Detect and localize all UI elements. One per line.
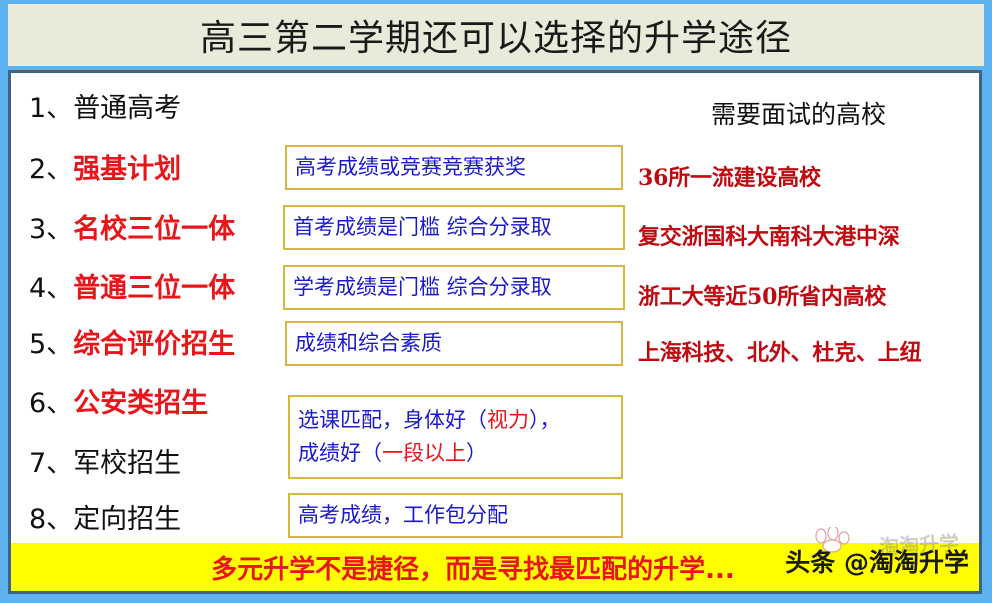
right-column-line: 36所一流建设高校	[638, 160, 821, 192]
list-item-label: 综合评价招生	[73, 329, 235, 360]
list-item-number: 5、	[29, 329, 73, 360]
page-title: 高三第二学期还可以选择的升学途径	[200, 9, 792, 61]
list-item-number: 2、	[29, 154, 73, 185]
list-item-number: 4、	[29, 273, 73, 304]
list-item-label: 名校三位一体	[73, 214, 235, 245]
right-column-line: 上海科技、北外、杜克、上纽	[638, 335, 921, 367]
bottom-banner: 多元升学不是捷径，而是寻找最匹配的升学...	[11, 543, 979, 591]
detail-text-highlight: 视力	[487, 408, 529, 432]
detail-text-highlight: 一段以上	[382, 441, 466, 465]
detail-box: 首考成绩是门槛 综合分录取	[283, 205, 625, 250]
detail-box: 高考成绩或竞赛竞赛获奖	[285, 145, 623, 190]
detail-box-line: 成绩好（一段以上）	[298, 437, 613, 470]
bottom-banner-text: 多元升学不是捷径，而是寻找最匹配的升学...	[211, 549, 735, 586]
list-item-label: 军校招生	[73, 448, 181, 479]
list-item-label: 普通高考	[73, 93, 181, 124]
detail-box: 选课匹配，身体好（视力）， 成绩好（一段以上）	[288, 395, 623, 479]
list-item-number: 6、	[29, 388, 73, 419]
list-item-label: 强基计划	[73, 154, 181, 185]
detail-box-line: 学考成绩是门槛 综合分录取	[293, 271, 615, 304]
list-item: 1、普通高考	[29, 95, 181, 122]
list-item: 3、名校三位一体	[29, 216, 235, 243]
list-item-number: 3、	[29, 214, 73, 245]
list-item-label: 公安类招生	[73, 388, 208, 419]
detail-box: 高考成绩，工作包分配	[288, 493, 623, 538]
list-item: 2、强基计划	[29, 156, 181, 183]
detail-text-pre: 选课匹配，身体好（	[298, 408, 487, 432]
right-column-heading: 需要面试的高校	[711, 95, 886, 131]
detail-box-line: 高考成绩或竞赛竞赛获奖	[295, 151, 613, 184]
detail-box: 成绩和综合素质	[285, 321, 623, 366]
detail-box-line: 选课匹配，身体好（视力），	[298, 404, 613, 437]
list-item: 6、公安类招生	[29, 390, 208, 417]
detail-text-pre: 成绩好（	[298, 441, 382, 465]
list-item-label: 普通三位一体	[73, 273, 235, 304]
detail-box-line: 成绩和综合素质	[295, 327, 613, 360]
list-item-number: 7、	[29, 448, 73, 479]
detail-box-line: 首考成绩是门槛 综合分录取	[293, 211, 615, 244]
list-item-number: 1、	[29, 93, 73, 124]
list-item: 4、普通三位一体	[29, 275, 235, 302]
list-item: 7、军校招生	[29, 450, 181, 477]
detail-text-post: ），	[529, 408, 561, 432]
content-panel: 1、普通高考 2、强基计划 3、名校三位一体 4、普通三位一体 5、综合评价招生…	[8, 70, 982, 594]
list-item-number: 8、	[29, 504, 73, 535]
slide-canvas: 高三第二学期还可以选择的升学途径 1、普通高考 2、强基计划 3、名校三位一体 …	[0, 0, 992, 603]
list-item: 5、综合评价招生	[29, 331, 235, 358]
right-column-line: 浙工大等近50所省内高校	[638, 279, 886, 311]
list-item: 8、定向招生	[29, 506, 181, 533]
list-item-label: 定向招生	[73, 504, 181, 535]
detail-text-post: ）	[466, 441, 487, 465]
right-column-line: 复交浙国科大南科大港中深	[638, 219, 900, 251]
detail-box-line: 高考成绩，工作包分配	[298, 499, 613, 532]
slide-title-bar: 高三第二学期还可以选择的升学途径	[8, 4, 984, 66]
detail-box: 学考成绩是门槛 综合分录取	[283, 265, 625, 310]
